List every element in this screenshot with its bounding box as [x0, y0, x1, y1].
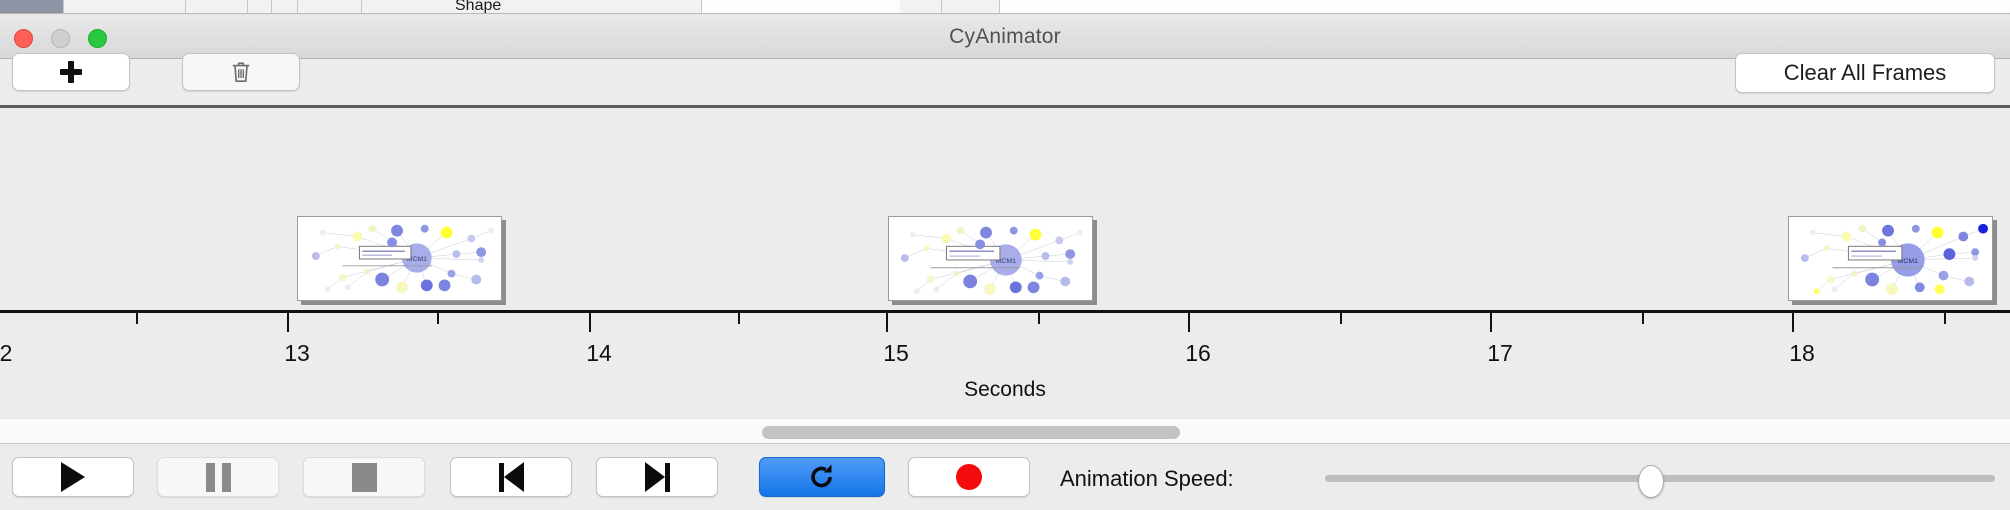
pause-button[interactable]	[157, 457, 279, 497]
bg-tab	[942, 0, 1000, 14]
axis-tick-label: 17	[1487, 340, 1513, 367]
animation-speed-slider-thumb[interactable]	[1638, 465, 1664, 498]
stop-icon	[352, 463, 377, 492]
frame-thumbnail[interactable]: MCM1	[1788, 216, 1993, 301]
timeline-scrollbar[interactable]	[0, 418, 2010, 444]
axis-tick-label: 2	[0, 340, 12, 367]
animation-speed-label: Animation Speed:	[1060, 466, 1234, 492]
clear-all-frames-label: Clear All Frames	[1784, 60, 1947, 86]
bg-tab	[272, 0, 298, 14]
axis-tick-minor	[437, 313, 439, 324]
background-window-strip: Shape	[0, 0, 2010, 14]
loop-button[interactable]	[759, 457, 885, 497]
window-title: CyAnimator	[0, 25, 2010, 49]
plus-icon	[60, 61, 82, 83]
axis-tick-label: 13	[284, 340, 310, 367]
axis-tick-minor	[1038, 313, 1040, 324]
axis-tick-minor	[738, 313, 740, 324]
add-frame-button[interactable]	[12, 53, 130, 91]
axis-title: Seconds	[0, 378, 2010, 402]
stop-button[interactable]	[303, 457, 425, 497]
bg-tab	[362, 0, 702, 14]
trash-icon	[230, 60, 252, 84]
cyanimator-window: Shape CyAnimator Clear All Frames	[0, 0, 2010, 510]
axis-tick-major	[886, 313, 888, 332]
axis-tick-major	[1188, 313, 1190, 332]
axis-tick-label: 16	[1185, 340, 1211, 367]
background-app-label: Shape	[455, 0, 501, 14]
bg-tab	[186, 0, 248, 14]
bg-tab	[298, 0, 362, 14]
axis-tick-label: 18	[1789, 340, 1815, 367]
bg-tab	[0, 0, 64, 14]
previous-frame-button[interactable]	[450, 457, 572, 497]
loop-icon	[807, 462, 837, 492]
delete-frame-button[interactable]	[182, 53, 300, 91]
axis-line	[0, 310, 2010, 313]
playback-control-bar: Animation Speed:	[0, 444, 2010, 510]
skip-back-icon	[499, 462, 524, 492]
axis-tick-label: 15	[883, 340, 909, 367]
frame-thumbnail[interactable]: MCM1	[888, 216, 1093, 301]
frame-toolbar	[0, 59, 2010, 108]
axis-tick-major	[287, 313, 289, 332]
skip-forward-icon	[645, 462, 670, 492]
title-bar: CyAnimator	[0, 14, 2010, 59]
bg-tab	[64, 0, 186, 14]
play-button[interactable]	[12, 457, 134, 497]
bg-tab	[248, 0, 272, 14]
axis-tick-major	[589, 313, 591, 332]
axis-tick-minor	[136, 313, 138, 324]
axis-tick-major	[1792, 313, 1794, 332]
record-icon	[956, 464, 982, 490]
axis-tick-minor	[1340, 313, 1342, 324]
next-frame-button[interactable]	[596, 457, 718, 497]
axis-tick-label: 14	[586, 340, 612, 367]
axis-tick-minor	[1944, 313, 1946, 324]
axis-tick-major	[1490, 313, 1492, 332]
bg-tab	[900, 0, 942, 14]
pause-icon	[206, 463, 231, 492]
timeline-scrollbar-thumb[interactable]	[762, 426, 1180, 439]
timeline-axis[interactable]: 2 13 14 15 16 17 18 Seconds	[0, 300, 2010, 420]
axis-tick-minor	[1642, 313, 1644, 324]
play-icon	[61, 462, 85, 492]
record-button[interactable]	[908, 457, 1030, 497]
clear-all-frames-button[interactable]: Clear All Frames	[1735, 53, 1995, 93]
frame-thumbnail[interactable]: MCM1	[297, 216, 502, 301]
